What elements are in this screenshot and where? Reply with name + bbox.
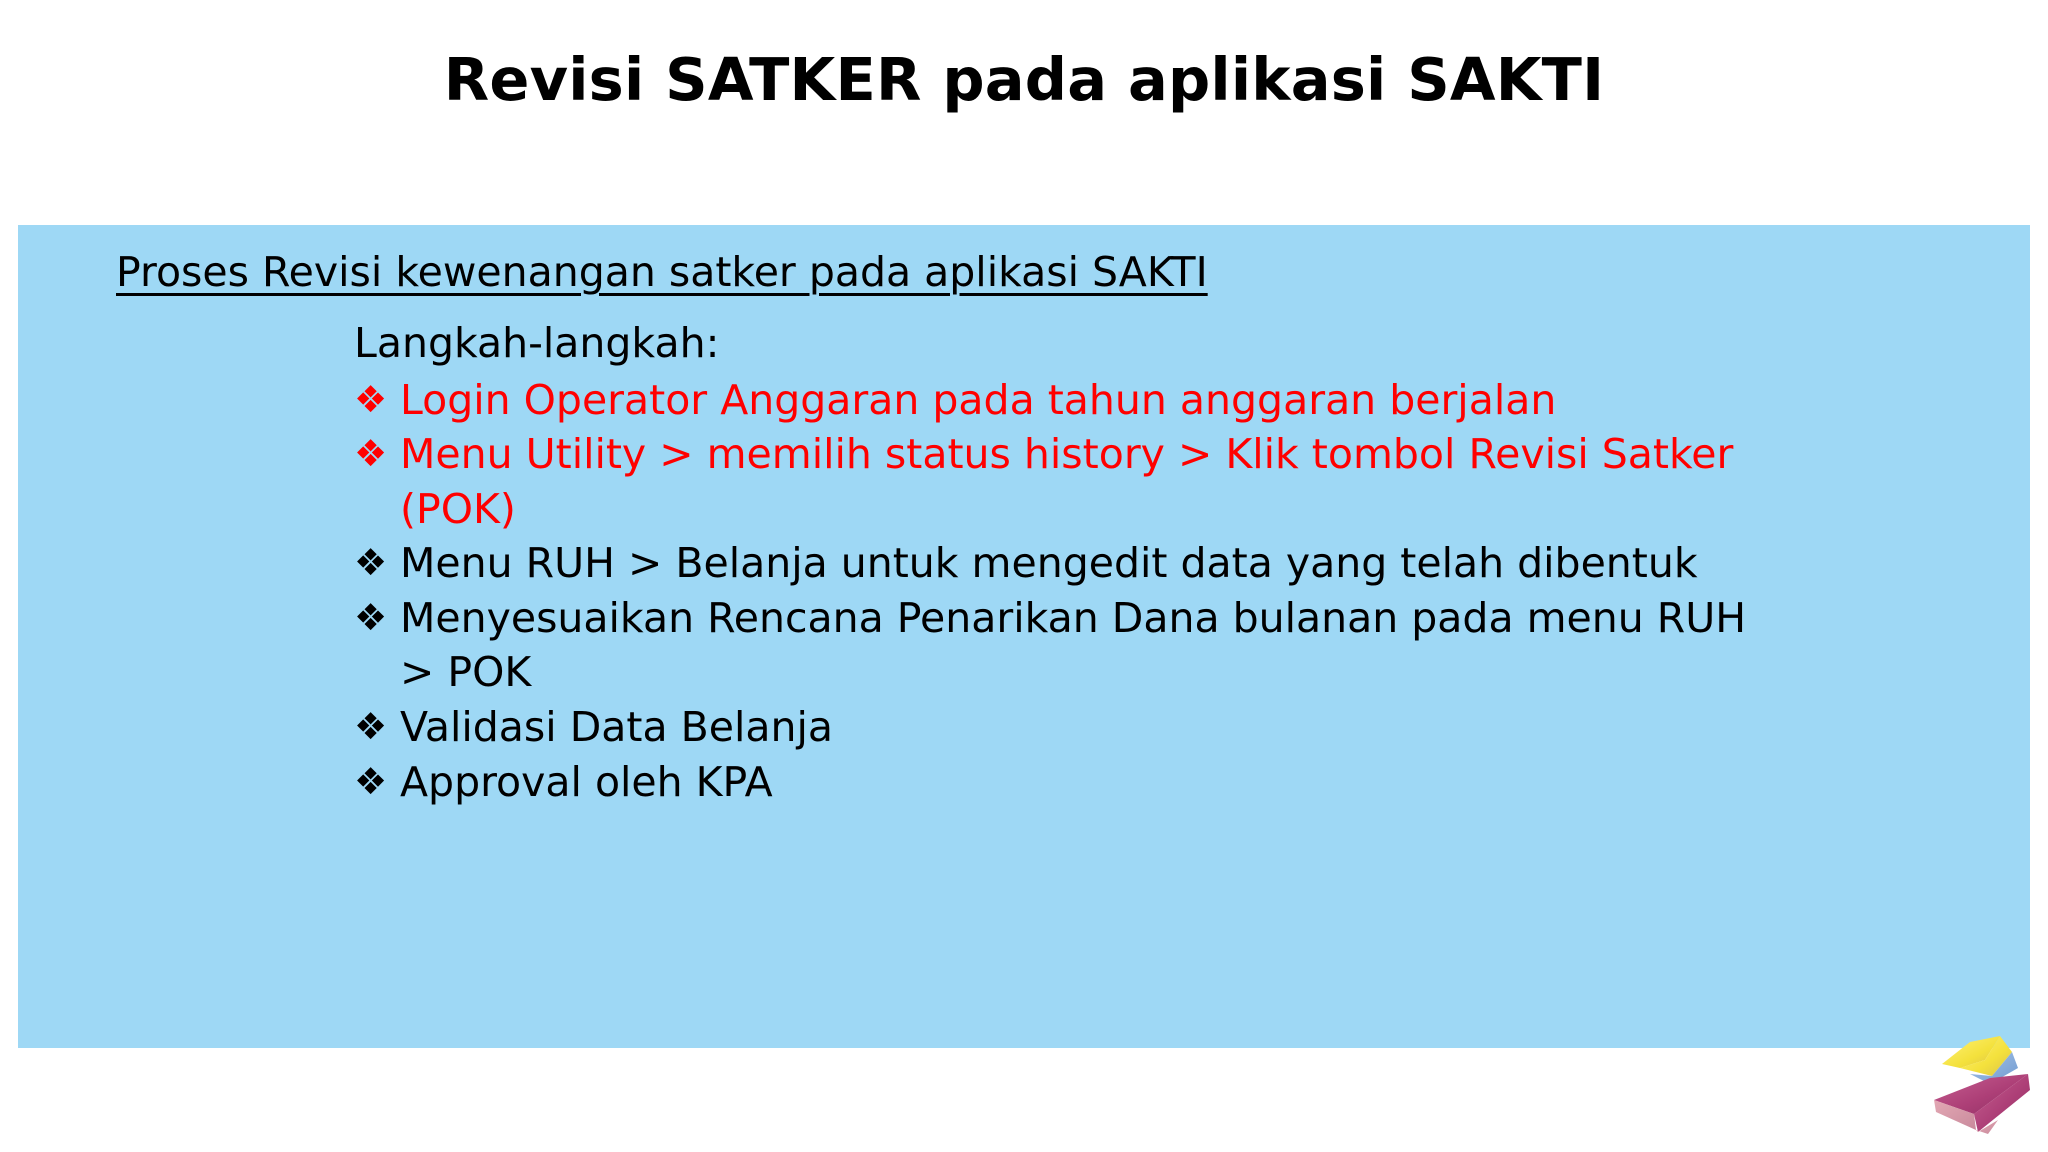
diamond-bullet-icon: ❖ — [354, 755, 400, 808]
list-item: ❖ Validasi Data Belanja — [354, 700, 1954, 755]
page-title: Revisi SATKER pada aplikasi SAKTI — [0, 46, 2048, 114]
diamond-bullet-icon: ❖ — [354, 591, 400, 644]
list-item-label: Login Operator Anggaran pada tahun angga… — [400, 373, 1780, 428]
diamond-bullet-icon: ❖ — [354, 700, 400, 753]
list-item: ❖ Menu Utility > memilih status history … — [354, 427, 1954, 536]
list-item-label: Approval oleh KPA — [400, 755, 1780, 810]
list-item: ❖ Login Operator Anggaran pada tahun ang… — [354, 373, 1954, 428]
list-item-label: Menu Utility > memilih status history > … — [400, 427, 1780, 536]
steps-intro-label: Langkah-langkah: — [354, 321, 1954, 367]
diamond-bullet-icon: ❖ — [354, 427, 400, 480]
diamond-bullet-icon: ❖ — [354, 536, 400, 589]
diamond-bullet-icon: ❖ — [354, 373, 400, 426]
panel-heading: Proses Revisi kewenangan satker pada apl… — [116, 250, 1208, 295]
list-item-label: Menyesuaikan Rencana Penarikan Dana bula… — [400, 591, 1780, 700]
list-item-label: Menu RUH > Belanja untuk mengedit data y… — [400, 536, 1780, 591]
ribbon-logo-icon — [1930, 1034, 2040, 1142]
steps-bullet-list: ❖ Login Operator Anggaran pada tahun ang… — [354, 373, 1954, 809]
list-item: ❖ Menyesuaikan Rencana Penarikan Dana bu… — [354, 591, 1954, 700]
content-panel: Proses Revisi kewenangan satker pada apl… — [18, 225, 2030, 1048]
list-item-label: Validasi Data Belanja — [400, 700, 1780, 755]
list-item: ❖ Menu RUH > Belanja untuk mengedit data… — [354, 536, 1954, 591]
list-item: ❖ Approval oleh KPA — [354, 755, 1954, 810]
steps-block: Langkah-langkah: ❖ Login Operator Anggar… — [354, 321, 1954, 809]
